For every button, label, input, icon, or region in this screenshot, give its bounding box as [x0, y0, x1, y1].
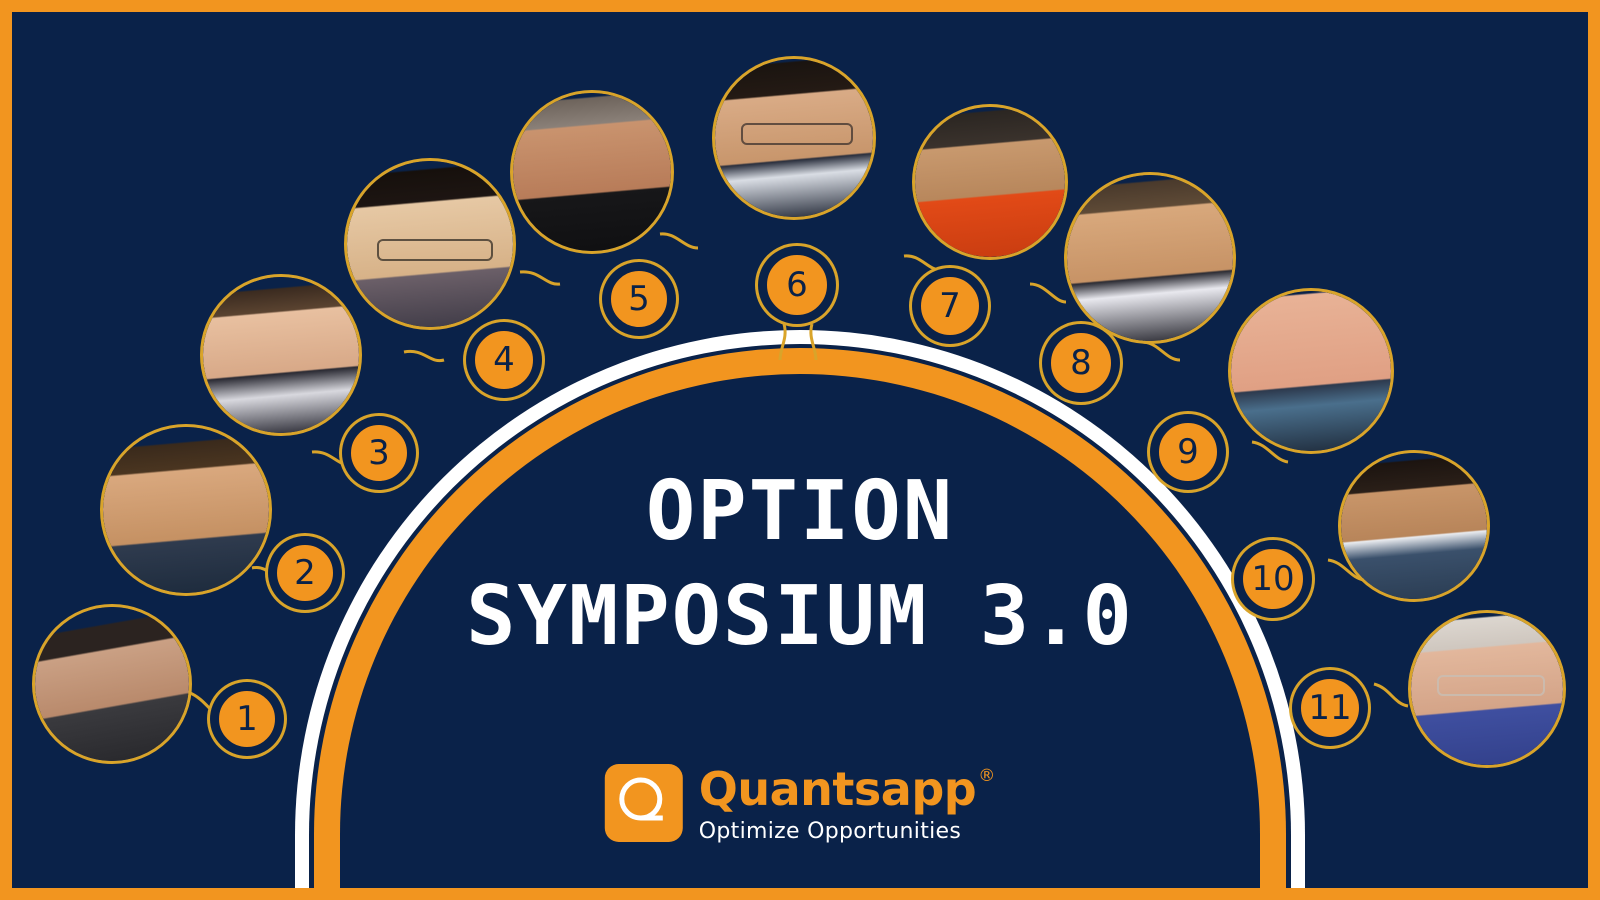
speaker-portrait-1 [35, 607, 189, 761]
poster-stage: 1 2 3 4 5 [12, 12, 1588, 888]
speaker-badge-1-label: 1 [236, 699, 258, 739]
speaker-badge-7-label: 7 [939, 286, 961, 326]
quantsapp-logo-text: Quantsapp ® Optimize Opportunities [699, 764, 995, 843]
speaker-badge-6-label: 6 [786, 265, 808, 305]
speaker-bubble-8[interactable] [1064, 172, 1236, 344]
quantsapp-tagline: Optimize Opportunities [699, 821, 995, 843]
quantsapp-wordmark: Quantsapp [699, 766, 976, 812]
eyeglasses-icon-6 [741, 123, 853, 145]
speaker-bubble-1[interactable] [32, 604, 192, 764]
speaker-portrait-2 [103, 427, 269, 593]
speaker-badge-11-label: 11 [1308, 688, 1351, 728]
speaker-bubble-11[interactable] [1408, 610, 1566, 768]
speaker-badge-5[interactable]: 5 [608, 268, 670, 330]
poster-title: OPTION SYMPOSIUM 3.0 [350, 460, 1250, 670]
poster-canvas: 1 2 3 4 5 [0, 0, 1600, 900]
speaker-bubble-5[interactable] [510, 90, 674, 254]
speaker-badge-6[interactable]: 6 [764, 252, 830, 318]
quantsapp-logo[interactable]: Quantsapp ® Optimize Opportunities [605, 764, 995, 843]
speaker-badge-2-label: 2 [294, 553, 316, 593]
speaker-portrait-10 [1341, 453, 1487, 599]
title-line-option: OPTION [350, 460, 1250, 565]
speaker-badge-7[interactable]: 7 [918, 274, 982, 338]
speaker-badge-11[interactable]: 11 [1298, 676, 1362, 740]
speaker-bubble-2[interactable] [100, 424, 272, 596]
speaker-bubble-4[interactable] [344, 158, 516, 330]
speaker-portrait-8 [1067, 175, 1233, 341]
speaker-bubble-7[interactable] [912, 104, 1068, 260]
eyeglasses-icon-11 [1437, 675, 1545, 696]
speaker-badge-4[interactable]: 4 [472, 328, 536, 392]
eyeglasses-icon-4 [377, 239, 493, 261]
speaker-badge-1[interactable]: 1 [216, 688, 278, 750]
registered-trademark-icon: ® [978, 768, 995, 785]
speaker-bubble-10[interactable] [1338, 450, 1490, 602]
speaker-badge-5-label: 5 [628, 279, 650, 319]
speaker-bubble-6[interactable] [712, 56, 876, 220]
speaker-bubble-3[interactable] [200, 274, 362, 436]
speaker-badge-8-label: 8 [1070, 343, 1092, 383]
speaker-badge-10-label: 10 [1251, 559, 1294, 599]
speaker-portrait-5 [513, 93, 671, 251]
speaker-portrait-7 [915, 107, 1065, 257]
speaker-badge-2[interactable]: 2 [274, 542, 336, 604]
speaker-bubble-9[interactable] [1228, 288, 1394, 454]
speaker-portrait-3 [203, 277, 359, 433]
quantsapp-q-mark-icon [605, 764, 683, 842]
speaker-portrait-9 [1231, 291, 1391, 451]
title-line-symposium: SYMPOSIUM 3.0 [350, 565, 1250, 670]
speaker-badge-4-label: 4 [493, 340, 515, 380]
speaker-badge-8[interactable]: 8 [1048, 330, 1114, 396]
